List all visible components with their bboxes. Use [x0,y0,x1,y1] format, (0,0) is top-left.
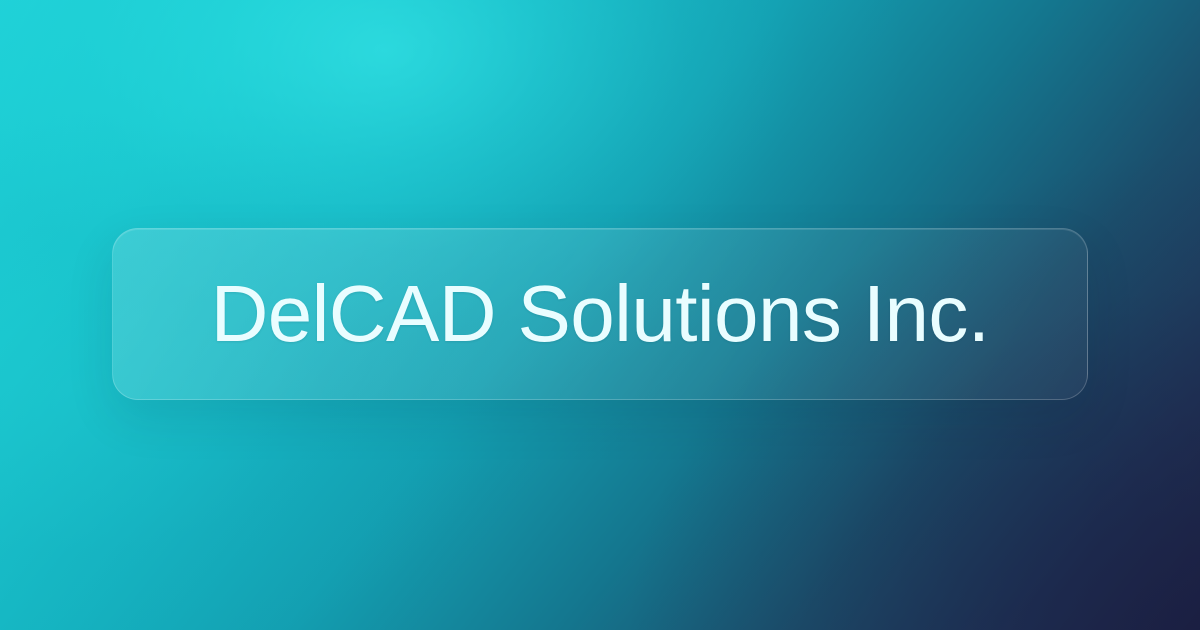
glass-title-card: DelCAD Solutions Inc. [112,228,1088,400]
og-image-stage: DelCAD Solutions Inc. [0,0,1200,630]
page-title: DelCAD Solutions Inc. [211,274,990,354]
